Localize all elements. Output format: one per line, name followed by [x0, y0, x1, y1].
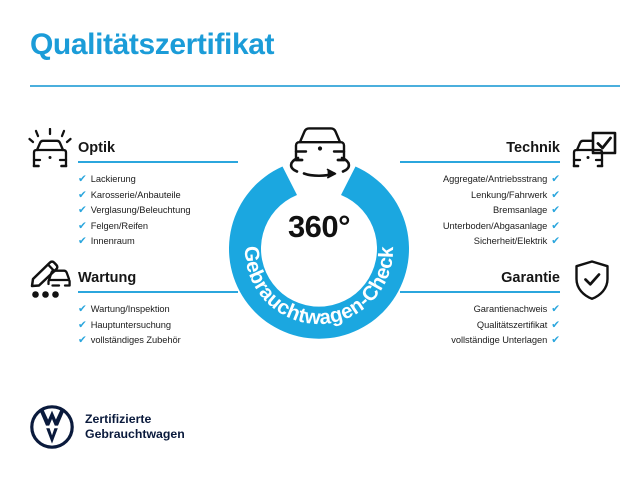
- list-item: vollständige Unterlagen✔: [400, 333, 560, 349]
- check-icon: ✔: [78, 188, 87, 204]
- list-item-label: Felgen/Reifen: [91, 221, 148, 231]
- check-icon: ✔: [78, 172, 87, 188]
- list-item: Aggregate/Antriebsstrang✔: [400, 172, 560, 188]
- section-heading-technik: Technik: [400, 140, 560, 156]
- check-icon: ✔: [551, 318, 560, 334]
- section-divider-garantie: [400, 291, 560, 293]
- list-item: ✔vollständiges Zubehör: [78, 333, 238, 349]
- list-item: Garantienachweis✔: [400, 302, 560, 318]
- section-wartung: Wartung ✔Wartung/Inspektion ✔Hauptunters…: [78, 270, 238, 349]
- list-item: ✔Verglasung/Beleuchtung: [78, 203, 238, 219]
- check-icon: ✔: [551, 234, 560, 250]
- list-item-label: Wartung/Inspektion: [91, 304, 170, 314]
- section-divider-wartung: [78, 291, 238, 293]
- check-icon: ✔: [78, 219, 87, 235]
- shield-check-icon: [566, 258, 618, 302]
- section-list-garantie: Garantienachweis✔ Qualitätszertifikat✔ v…: [400, 302, 560, 349]
- check-icon: ✔: [78, 333, 87, 349]
- car-rotation-icon: [282, 124, 358, 182]
- list-item-label: Hauptuntersuchung: [91, 320, 171, 330]
- list-item: Bremsanlage✔: [400, 203, 560, 219]
- list-item: ✔Karosserie/Anbauteile: [78, 188, 238, 204]
- page-title: Qualitätszertifikat: [30, 28, 274, 62]
- list-item-label: Lenkung/Fahrwerk: [471, 190, 547, 200]
- list-item-label: Innenraum: [91, 236, 135, 246]
- check-icon: ✔: [78, 203, 87, 219]
- check-icon: ✔: [551, 333, 560, 349]
- section-garantie: Garantie Garantienachweis✔ Qualitätszert…: [400, 270, 560, 349]
- service-book-pen-icon: [24, 258, 76, 302]
- list-item-label: Bremsanlage: [493, 205, 547, 215]
- check-icon: ✔: [551, 188, 560, 204]
- section-optik: Optik ✔Lackierung ✔Karosserie/Anbauteile…: [78, 140, 238, 250]
- list-item-label: vollständige Unterlagen: [451, 335, 547, 345]
- list-item-label: Aggregate/Antriebsstrang: [443, 174, 547, 184]
- list-item-label: Qualitätszertifikat: [477, 320, 547, 330]
- list-item: ✔Lackierung: [78, 172, 238, 188]
- list-item-label: Sicherheit/Elektrik: [474, 236, 547, 246]
- list-item: Unterboden/Abgasanlage✔: [400, 219, 560, 235]
- car-shine-icon: [24, 128, 76, 172]
- check-icon: ✔: [551, 172, 560, 188]
- list-item-label: Unterboden/Abgasanlage: [443, 221, 547, 231]
- section-list-technik: Aggregate/Antriebsstrang✔ Lenkung/Fahrwe…: [400, 172, 560, 250]
- section-heading-garantie: Garantie: [400, 270, 560, 286]
- badge-degrees-label: 360°: [221, 209, 417, 245]
- section-divider-technik: [400, 161, 560, 163]
- list-item: Sicherheit/Elektrik✔: [400, 234, 560, 250]
- list-item-label: Garantienachweis: [474, 304, 548, 314]
- list-item-label: Lackierung: [91, 174, 136, 184]
- list-item: ✔Felgen/Reifen: [78, 219, 238, 235]
- section-technik: Technik Aggregate/Antriebsstrang✔ Lenkun…: [400, 140, 560, 250]
- check-icon: ✔: [551, 302, 560, 318]
- footer-brand: Zertifizierte Gebrauchtwagen: [30, 405, 185, 449]
- list-item: Lenkung/Fahrwerk✔: [400, 188, 560, 204]
- list-item: ✔Wartung/Inspektion: [78, 302, 238, 318]
- list-item-label: vollständiges Zubehör: [91, 335, 181, 345]
- certificate-page: Qualitätszertifikat Optik ✔Lackierung ✔K…: [0, 0, 640, 480]
- list-item: ✔Innenraum: [78, 234, 238, 250]
- list-item-label: Verglasung/Beleuchtung: [91, 205, 191, 215]
- section-list-optik: ✔Lackierung ✔Karosserie/Anbauteile ✔Verg…: [78, 172, 238, 250]
- volkswagen-logo: [30, 405, 74, 449]
- list-item: ✔Hauptuntersuchung: [78, 318, 238, 334]
- section-heading-wartung: Wartung: [78, 270, 238, 286]
- check-icon: ✔: [551, 203, 560, 219]
- check-icon: ✔: [78, 318, 87, 334]
- footer-line-1: Zertifizierte: [85, 412, 185, 427]
- section-divider-optik: [78, 161, 238, 163]
- section-list-wartung: ✔Wartung/Inspektion ✔Hauptuntersuchung ✔…: [78, 302, 238, 349]
- footer-brand-text: Zertifizierte Gebrauchtwagen: [85, 412, 185, 442]
- footer-line-2: Gebrauchtwagen: [85, 427, 185, 442]
- check-icon: ✔: [78, 302, 87, 318]
- list-item-label: Karosserie/Anbauteile: [91, 190, 181, 200]
- title-divider: [30, 85, 620, 87]
- section-heading-optik: Optik: [78, 140, 238, 156]
- check-icon: ✔: [78, 234, 87, 250]
- check-icon: ✔: [551, 219, 560, 235]
- car-checkbox-icon: [566, 128, 618, 172]
- list-item: Qualitätszertifikat✔: [400, 318, 560, 334]
